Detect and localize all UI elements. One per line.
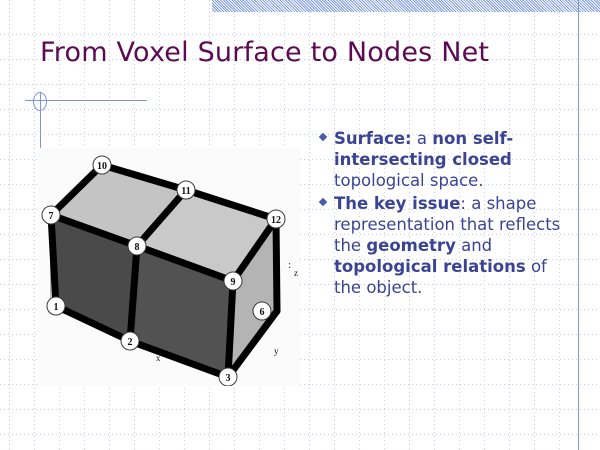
- svg-text:10: 10: [97, 161, 107, 172]
- bullet-text-1: Surface: a non self-intersecting closed …: [334, 128, 570, 191]
- svg-text:2: 2: [128, 337, 133, 348]
- node-7: 7: [42, 206, 60, 224]
- axis-label-x: x: [156, 353, 161, 363]
- node-6: 6: [253, 302, 271, 320]
- svg-text:7: 7: [49, 211, 54, 222]
- svg-text:12: 12: [271, 215, 281, 226]
- right-vertical-rule: [578, 0, 579, 450]
- node-12: 12: [267, 210, 285, 228]
- list-item[interactable]: The key issue: a shape representation th…: [318, 193, 570, 298]
- motif-circle-icon: [33, 92, 47, 111]
- axis-label-y: y: [274, 346, 279, 356]
- top-decorative-band: [212, 0, 600, 12]
- svg-text:11: 11: [181, 186, 190, 197]
- slide-canvas: From Voxel Surface to Nodes Net: [0, 0, 600, 450]
- svg-text:8: 8: [135, 242, 140, 253]
- svg-text:6: 6: [260, 307, 265, 318]
- axis-label-z: z: [294, 268, 298, 278]
- svg-text:3: 3: [226, 373, 231, 384]
- node-3: 3: [219, 368, 237, 386]
- diamond-bullet-icon: [318, 128, 334, 140]
- voxel-surface-nodes-net-diagram: 1 2 3 6 7: [38, 148, 300, 386]
- page-title: From Voxel Surface to Nodes Net: [40, 36, 489, 70]
- bullet-text-2: The key issue: a shape representation th…: [334, 193, 570, 298]
- list-item[interactable]: Surface: a non self-intersecting closed …: [318, 128, 570, 191]
- node-9: 9: [224, 272, 242, 290]
- node-11: 11: [177, 181, 195, 199]
- stray-colon-glyph: :: [288, 260, 291, 271]
- node-8: 8: [128, 237, 146, 255]
- node-1: 1: [47, 297, 65, 315]
- cube-illustration: 1 2 3 6 7: [38, 148, 300, 386]
- diamond-bullet-icon: [318, 193, 334, 205]
- svg-text:1: 1: [54, 302, 59, 313]
- node-2: 2: [121, 332, 139, 350]
- node-10: 10: [93, 156, 111, 174]
- bullet-list: Surface: a non self-intersecting closed …: [318, 128, 570, 300]
- svg-text:9: 9: [231, 277, 236, 288]
